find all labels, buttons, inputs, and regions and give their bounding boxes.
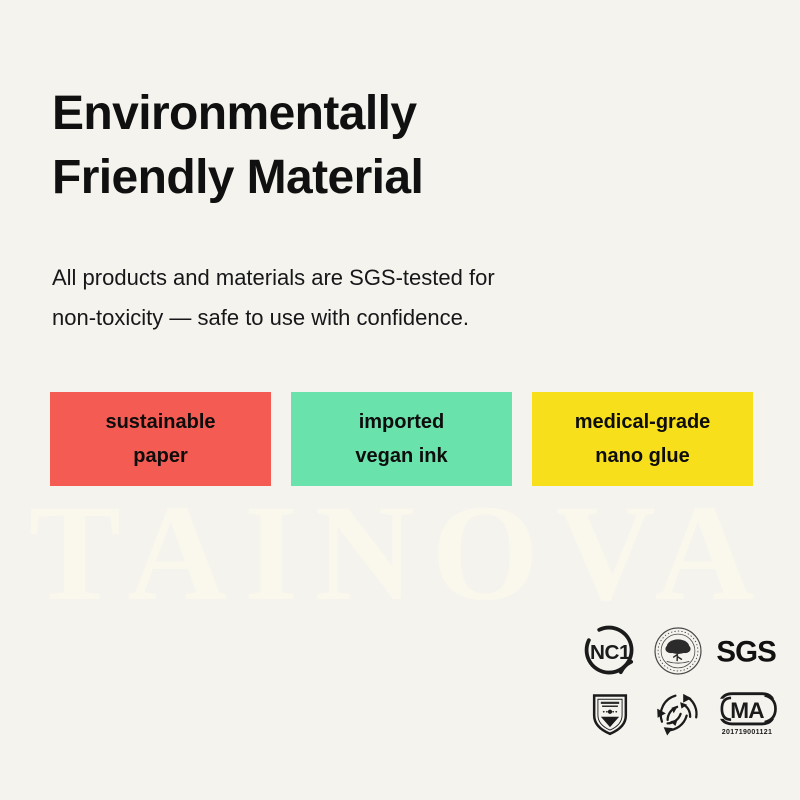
page-subtitle: All products and materials are SGS-teste… [52, 258, 672, 339]
page-subtitle-line-2: non-toxicity — safe to use with confiden… [52, 298, 672, 338]
material-card-label-line-2: nano glue [595, 439, 689, 473]
page-subtitle-line-1: All products and materials are SGS-teste… [52, 258, 672, 298]
material-card-label-line-1: imported [359, 405, 445, 439]
recycling-icon [647, 683, 709, 743]
nc1-icon: NC1 [579, 621, 641, 681]
svg-text:201719001121: 201719001121 [722, 729, 772, 736]
sgs-icon: SGS [716, 621, 778, 681]
material-card-list: sustainable paper imported vegan ink med… [50, 392, 753, 486]
svg-text:SGS: SGS [717, 635, 776, 668]
material-card-label-line-1: medical-grade [575, 405, 711, 439]
cma-icon: MA 201719001121 [716, 683, 778, 743]
material-card-medical-grade-nano-glue: medical-grade nano glue [532, 392, 753, 486]
certification-badge-grid: NC1 SGS [576, 620, 781, 744]
page-title-line-2: Friendly Material [52, 146, 742, 210]
material-card-label-line-1: sustainable [105, 405, 215, 439]
svg-text:NC1: NC1 [590, 641, 630, 664]
page-title-line-1: Environmentally [52, 82, 742, 146]
material-card-imported-vegan-ink: imported vegan ink [291, 392, 512, 486]
material-card-label-line-2: vegan ink [355, 439, 447, 473]
brand-watermark: TAINOVA [0, 484, 800, 622]
svg-text:MA: MA [730, 698, 764, 723]
material-card-sustainable-paper: sustainable paper [50, 392, 271, 486]
page-title: Environmentally Friendly Material [52, 82, 742, 210]
forest-seal-icon [647, 621, 709, 681]
shield-icon [579, 683, 641, 743]
material-card-label-line-2: paper [133, 439, 187, 473]
poster-canvas: TAINOVA Environmentally Friendly Materia… [0, 0, 800, 800]
